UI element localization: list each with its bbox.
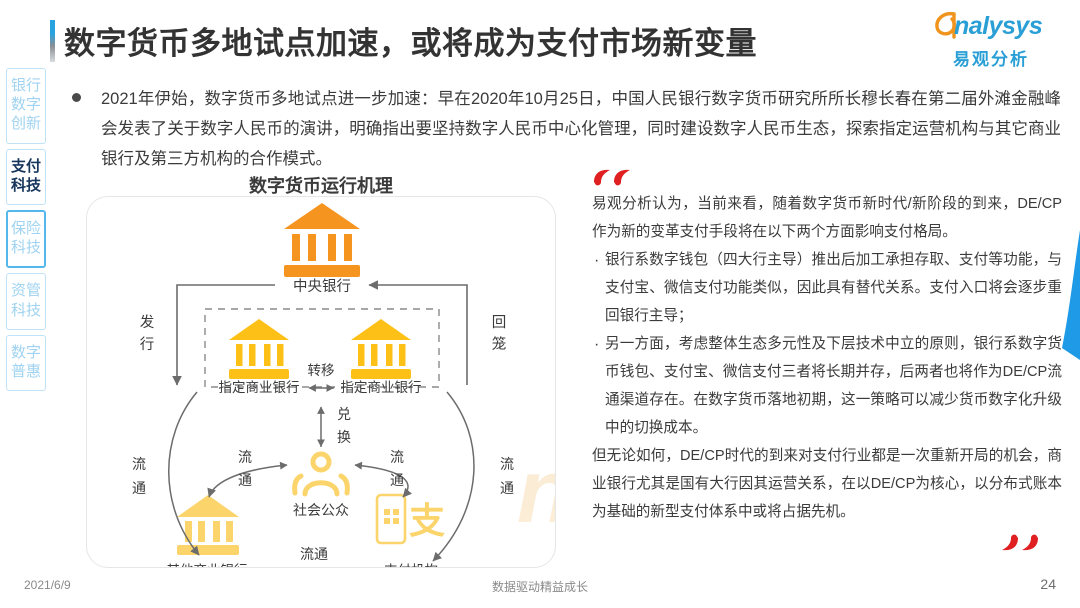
svg-text:通: 通 xyxy=(132,480,146,496)
sidebar-item-label: 数字普惠 xyxy=(7,343,45,381)
analysis-bullet-item: 另一方面，考虑整体生态多元性及下层技术中立的原则，银行系数字货币钱包、支付宝、微… xyxy=(592,330,1062,442)
diagram-node-central-bank: 中央银行 xyxy=(293,278,351,295)
sidebar-item-label: 银行数字创新 xyxy=(7,76,45,134)
svg-text:行: 行 xyxy=(140,336,155,353)
diagram-node-other-bank: 其他商业银行 xyxy=(167,563,248,568)
diagram-edge-circulate-left: 流 xyxy=(132,456,146,472)
public-people-icon xyxy=(295,454,348,494)
sidebar-item-asset-management-tech[interactable]: 资管科技 xyxy=(6,273,46,329)
diagram-edge-transfer: 转移 xyxy=(308,363,335,378)
diagram-edge-issue: 发 xyxy=(140,314,155,331)
diagram-container: naly 易观 xyxy=(86,196,556,568)
body-paragraph: 2021年伊始，数字货币多地试点进一步加速：早在2020年10月25日，中国人民… xyxy=(101,84,1061,174)
quote-close-icon xyxy=(1000,534,1042,559)
diagram-edge-circulate-public-left: 流 xyxy=(238,449,252,465)
svg-text:通: 通 xyxy=(238,472,252,488)
central-bank-icon xyxy=(284,203,360,277)
page-title: 数字货币多地试点加速，或将成为支付市场新变量 xyxy=(64,18,757,63)
designated-bank-right-icon xyxy=(351,319,411,379)
logo-wordmark-row: nalysys xyxy=(926,12,1056,42)
footer-slogan: 数据驱动精益成长 xyxy=(0,578,1080,595)
diagram-node-payment-org: 支付机构 xyxy=(384,563,438,568)
right-analysis-panel: 易观分析认为，当前来看，随着数字货币新时代/新阶段的到来，DE/CP作为新的变革… xyxy=(592,190,1062,526)
sidebar-item-digital-inclusive-finance[interactable]: 数字普惠 xyxy=(6,335,46,391)
svg-text:通: 通 xyxy=(500,480,514,496)
diagram-title: 数字货币运行机理 xyxy=(86,172,556,198)
blue-wedge-decoration xyxy=(1058,230,1080,365)
designated-bank-left-icon xyxy=(229,319,289,379)
bullet-dot-icon xyxy=(72,93,81,102)
diagram-edge-circulate-bottom: 流通 xyxy=(300,546,328,562)
other-bank-icon xyxy=(177,495,239,555)
sidebar-item-label: 保险科技 xyxy=(8,219,44,257)
analysis-paragraph: 易观分析认为，当前来看，随着数字货币新时代/新阶段的到来，DE/CP作为新的变革… xyxy=(592,190,1062,246)
diagram-edge-exchange: 兑 xyxy=(337,406,351,422)
svg-text:笼: 笼 xyxy=(492,336,507,353)
sidebar-item-label: 支付科技 xyxy=(7,157,45,195)
title-accent-bar xyxy=(50,20,55,62)
payment-org-icon: 支 xyxy=(377,495,445,543)
svg-text:换: 换 xyxy=(337,429,351,445)
diagram-edge-withdraw: 回 xyxy=(492,314,507,331)
diagram-node-designated-bank-right: 指定商业银行 xyxy=(341,380,422,395)
logo-chinese-name: 易观分析 xyxy=(926,45,1056,70)
diagram-node-public: 社会公众 xyxy=(293,502,349,518)
diagram-edge-circulate-right: 流 xyxy=(500,456,514,472)
sidebar: 银行数字创新 支付科技 保险科技 资管科技 数字普惠 xyxy=(6,68,46,396)
sidebar-item-payment-tech[interactable]: 支付科技 xyxy=(6,149,46,205)
diagram-edge-circulate-public-right: 流 xyxy=(390,449,404,465)
sidebar-item-bank-digital-innovation[interactable]: 银行数字创新 xyxy=(6,68,46,144)
svg-text:支: 支 xyxy=(409,500,445,541)
sidebar-item-insurance-tech[interactable]: 保险科技 xyxy=(6,210,46,268)
diagram-svg: 中央银行 发 行 回 笼 xyxy=(87,197,556,568)
footer-page-number: 24 xyxy=(1040,576,1056,592)
analysis-bullet-item: 银行系数字钱包（四大行主导）推出后加工承担存取、支付等功能，与支付宝、微信支付功… xyxy=(592,246,1062,330)
analysis-paragraph: 但无论如何，DE/CP时代的到来对支付行业都是一次重新开局的机会，商业银行尤其是… xyxy=(592,442,1062,526)
analysys-logo: nalysys 易观分析 xyxy=(926,12,1056,70)
sidebar-item-label: 资管科技 xyxy=(7,281,45,319)
diagram-node-designated-bank-left: 指定商业银行 xyxy=(219,380,300,395)
logo-wordmark: nalysys xyxy=(954,12,1042,41)
svg-text:通: 通 xyxy=(390,472,404,488)
slide-root: 数字货币多地试点加速，或将成为支付市场新变量 nalysys 易观分析 银行数字… xyxy=(0,0,1080,608)
